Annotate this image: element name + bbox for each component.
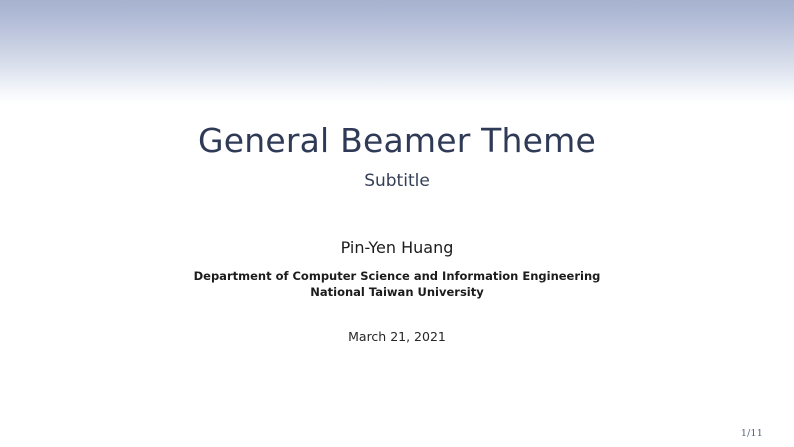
page-number-indicator: 1/11: [741, 428, 763, 439]
header-gradient-band: [0, 0, 794, 104]
institute-block: Department of Computer Science and Infor…: [0, 269, 794, 301]
page-title: General Beamer Theme: [0, 122, 794, 160]
beamer-title-slide: General Beamer Theme Subtitle Pin-Yen Hu…: [0, 0, 794, 447]
title-block: General Beamer Theme Subtitle: [0, 122, 794, 191]
author-name: Pin-Yen Huang: [0, 238, 794, 258]
author-block: Pin-Yen Huang Department of Computer Sci…: [0, 238, 794, 301]
date-block: March 21, 2021: [0, 329, 794, 344]
page-subtitle: Subtitle: [0, 171, 794, 191]
institute-line-university: National Taiwan University: [0, 285, 794, 301]
presentation-date: March 21, 2021: [0, 329, 794, 344]
institute-line-department: Department of Computer Science and Infor…: [0, 269, 794, 285]
